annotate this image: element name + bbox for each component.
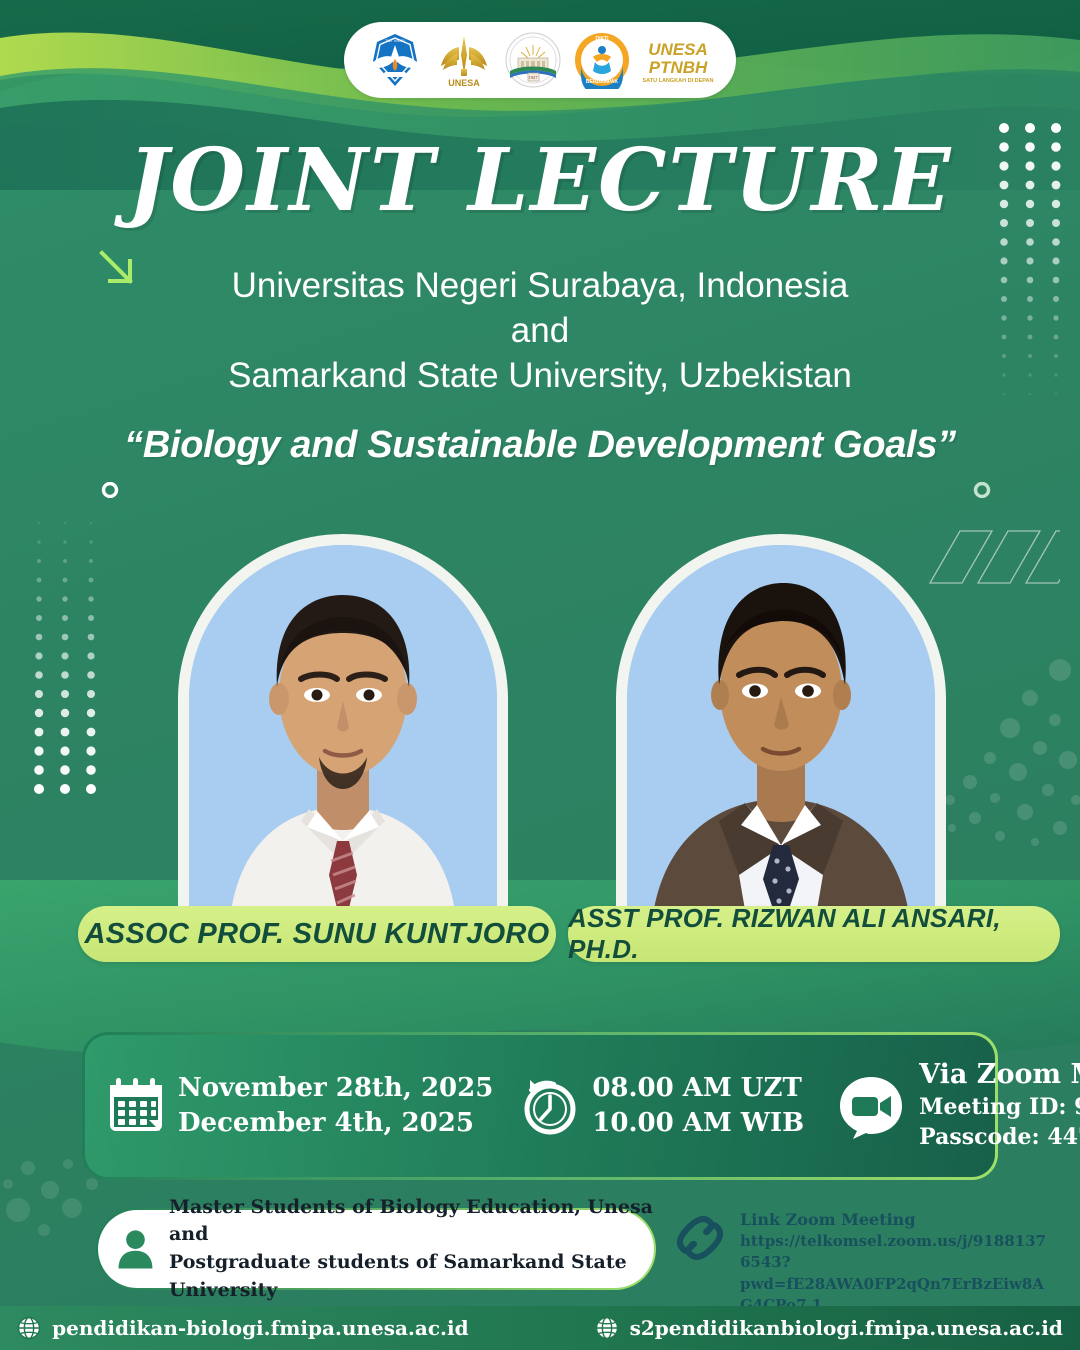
svg-text:UNESA: UNESA xyxy=(648,40,708,59)
diktisaintek-berdampak-logo: DIKTI BERDAMPAK xyxy=(573,31,631,89)
globe-icon xyxy=(595,1316,619,1340)
event-time-line-1: 08.00 AM UZT xyxy=(592,1071,804,1106)
portrait-illustration-2 xyxy=(627,545,935,933)
calendar-icon xyxy=(107,1076,165,1136)
samarkand-state-university-logo: 1927 xyxy=(504,31,562,89)
zoom-passcode: Passcode: 447627 xyxy=(919,1123,1080,1153)
audience-pill: Master Students of Biology Education, Un… xyxy=(96,1208,656,1290)
subtitle: Universitas Negeri Surabaya, Indonesia a… xyxy=(0,264,1080,398)
audience-line-2: Postgraduate students of Samarkand State… xyxy=(169,1249,654,1304)
svg-text:BERDAMPAK: BERDAMPAK xyxy=(586,79,619,85)
subtitle-line-1: Universitas Negeri Surabaya, Indonesia xyxy=(0,264,1080,309)
footer-site-2[interactable]: s2pendidikanbiologi.fmipa.unesa.ac.id xyxy=(595,1316,1063,1340)
clock-icon xyxy=(521,1076,579,1136)
event-date-line-2: December 4th, 2025 xyxy=(178,1106,493,1141)
svg-text:DIKTI: DIKTI xyxy=(595,36,609,42)
globe-icon xyxy=(17,1316,41,1340)
svg-text:SATU LANGKAH DI DEPAN: SATU LANGKAH DI DEPAN xyxy=(643,78,714,84)
subtitle-line-3: Samarkand State University, Uzbekistan xyxy=(0,354,1080,399)
event-time-group: 08.00 AM UZT 10.00 AM WIB xyxy=(521,1071,804,1142)
page-title: JOINT LECTURE xyxy=(0,138,1080,224)
event-time-line-2: 10.00 AM WIB xyxy=(592,1106,804,1141)
speaker-name-badge-1: ASSOC PROF. SUNU KUNTJORO xyxy=(78,906,556,962)
svg-text:TUT WURI: TUT WURI xyxy=(385,38,404,43)
divider-line xyxy=(100,482,992,498)
speaker-photo-1 xyxy=(178,534,508,944)
event-date-line-1: November 28th, 2025 xyxy=(178,1071,493,1106)
zoom-meeting-group: Via Zoom Meeting Meeting ID: 918 8137 65… xyxy=(836,1059,1080,1153)
zoom-meeting-id: Meeting ID: 918 8137 6543 xyxy=(919,1093,1080,1123)
footer-site-2-label: s2pendidikanbiologi.fmipa.unesa.ac.id xyxy=(630,1316,1063,1340)
event-date-group: November 28th, 2025 December 4th, 2025 xyxy=(107,1071,493,1142)
diagonal-lines-decoration xyxy=(920,525,1060,595)
user-icon xyxy=(116,1224,155,1274)
footer-bar: pendidikan-biologi.fmipa.unesa.ac.id s2p… xyxy=(0,1306,1080,1350)
speaker-photo-2 xyxy=(616,534,946,944)
subtitle-line-2: and xyxy=(0,309,1080,354)
event-info-bar: November 28th, 2025 December 4th, 2025 0… xyxy=(82,1032,998,1180)
zoom-title: Via Zoom Meeting xyxy=(919,1059,1080,1091)
poster-canvas: TUT WURI UNESA xyxy=(0,0,1080,1350)
svg-text:PTNBH: PTNBH xyxy=(649,58,708,77)
zoom-link-block[interactable]: Link Zoom Meeting https://telkomsel.zoom… xyxy=(674,1208,1054,1316)
portrait-illustration-1 xyxy=(189,545,497,933)
lecture-theme: “Biology and Sustainable Development Goa… xyxy=(0,424,1080,467)
tut-wuri-handayani-logo: TUT WURI xyxy=(366,31,424,89)
audience-line-1: Master Students of Biology Education, Un… xyxy=(169,1194,654,1249)
zoom-link-title: Link Zoom Meeting xyxy=(740,1208,1054,1231)
footer-site-1[interactable]: pendidikan-biologi.fmipa.unesa.ac.id xyxy=(17,1316,468,1340)
svg-text:1927: 1927 xyxy=(529,75,539,80)
footer-site-1-label: pendidikan-biologi.fmipa.unesa.ac.id xyxy=(52,1316,468,1340)
unesa-ptnbh-logo: UNESA PTNBH SATU LANGKAH DI DEPAN xyxy=(642,31,714,89)
dot-grid-left xyxy=(25,515,105,805)
logo-bar: TUT WURI UNESA xyxy=(344,22,736,98)
link-chain-icon xyxy=(674,1212,726,1264)
svg-text:UNESA: UNESA xyxy=(448,78,480,88)
video-camera-icon xyxy=(836,1073,906,1139)
speaker-name-badge-2: ASST PROF. RIZWAN ALI ANSARI, PH.D. xyxy=(568,906,1060,962)
zoom-link-url-line-1[interactable]: https://telkomsel.zoom.us/j/91881376543? xyxy=(740,1231,1054,1274)
unesa-logo: UNESA xyxy=(435,31,493,89)
